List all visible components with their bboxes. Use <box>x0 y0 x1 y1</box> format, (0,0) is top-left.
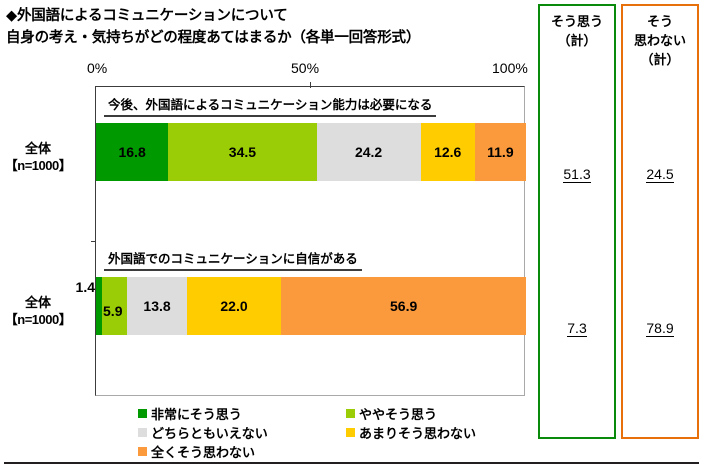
bottom-divider <box>4 462 699 464</box>
bar-segment-label-1-1: 16.8 <box>118 144 145 160</box>
axis-tick-mark-row-divider <box>91 241 96 242</box>
legend-swatch-icon-1 <box>138 409 147 418</box>
axis-tick-0: 0% <box>87 60 107 76</box>
legend-item-1: 非常にそう思う <box>138 404 346 423</box>
bar-segment-label-2-3: 13.8 <box>143 298 170 314</box>
legend: 非常にそう思う ややそう思う どちらともいえない あまりそう思わない 全くそう思… <box>138 404 538 461</box>
summary-header-disagree-line3: （計） <box>623 50 697 69</box>
summary-value-agree-row1: 51.3 <box>540 166 614 182</box>
row-label-1: 全体 【n=1000】 <box>0 140 82 174</box>
legend-swatch-icon-3 <box>138 428 147 437</box>
legend-row-3: 全くそう思わない <box>138 442 538 461</box>
bar-segment-1-1: 16.8 <box>96 123 168 181</box>
summary-header-agree: そう思う （計） <box>540 12 614 50</box>
axis-tick-100: 100% <box>492 60 528 76</box>
summary-column-agree: そう思う （計） 51.3 7.3 <box>538 4 616 439</box>
legend-item-5: 全くそう思わない <box>138 442 346 461</box>
row-label-2: 全体 【n=1000】 <box>0 294 82 328</box>
bar-segment-label-2-5: 56.9 <box>390 298 417 314</box>
legend-swatch-icon-4 <box>346 428 355 437</box>
summary-header-agree-line2: （計） <box>540 31 614 50</box>
summary-header-agree-line1: そう思う <box>540 12 614 31</box>
plot-area: 今後、外国語によるコミュニケーション能力は必要になる 16.8 34.5 24.… <box>95 86 525 396</box>
page-title-line1: ◆外国語によるコミュニケーションについて <box>6 4 288 25</box>
legend-label-5: 全くそう思わない <box>151 442 255 461</box>
summary-header-disagree-line2: 思わない <box>623 31 697 50</box>
row-label-2-n: 【n=1000】 <box>0 311 82 328</box>
chart-page: ◆外国語によるコミュニケーションについて 自身の考え・気持ちがどの程度あてはまる… <box>0 0 703 471</box>
bar-segment-1-3: 24.2 <box>317 123 421 181</box>
bar-segment-label-1-4: 12.6 <box>434 144 461 160</box>
legend-item-2: ややそう思う <box>346 404 437 423</box>
row-label-2-name: 全体 <box>0 294 82 311</box>
legend-swatch-icon-5 <box>138 447 147 456</box>
legend-label-3: どちらともいえない <box>151 423 268 442</box>
stacked-bar-1: 16.8 34.5 24.2 12.6 11.9 <box>96 123 526 181</box>
bar-segment-label-2-1: 1.4 <box>76 279 95 295</box>
axis-tick-50: 50% <box>291 60 319 76</box>
bar-segment-label-2-2: 5.9 <box>103 303 122 319</box>
bar-segment-label-1-2: 34.5 <box>229 144 256 160</box>
summary-value-disagree-row2: 78.9 <box>623 320 697 336</box>
bar-segment-1-4: 12.6 <box>421 123 475 181</box>
legend-row-1: 非常にそう思う ややそう思う <box>138 404 538 423</box>
row-label-1-name: 全体 <box>0 140 82 157</box>
summary-value-disagree-row1: 24.5 <box>623 166 697 182</box>
stacked-bar-2: 1.4 5.9 13.8 22.0 56.9 <box>96 277 526 335</box>
bar-segment-2-4: 22.0 <box>187 277 282 335</box>
bar-segment-label-1-3: 24.2 <box>355 144 382 160</box>
summary-value-agree-row2: 7.3 <box>540 320 614 336</box>
legend-item-3: どちらともいえない <box>138 423 346 442</box>
bar-segment-1-2: 34.5 <box>168 123 316 181</box>
bar-segment-2-2: 5.9 <box>102 277 127 335</box>
summary-column-disagree: そう 思わない （計） 24.5 78.9 <box>621 4 699 439</box>
axis-tick-mark-50 <box>310 82 311 88</box>
legend-row-2: どちらともいえない あまりそう思わない <box>138 423 538 442</box>
bar-segment-2-3: 13.8 <box>127 277 186 335</box>
legend-swatch-icon-2 <box>346 409 355 418</box>
bar-segment-label-2-4: 22.0 <box>220 298 247 314</box>
row-label-1-n: 【n=1000】 <box>0 157 82 174</box>
summary-header-disagree-line1: そう <box>623 12 697 31</box>
summary-header-disagree: そう 思わない （計） <box>623 12 697 69</box>
bar-segment-2-5: 56.9 <box>281 277 526 335</box>
bar-title-1: 今後、外国語によるコミュニケーション能力は必要になる <box>104 97 436 117</box>
legend-label-2: ややそう思う <box>359 404 437 423</box>
bar-segment-1-5: 11.9 <box>475 123 526 181</box>
bar-segment-label-1-5: 11.9 <box>487 144 513 160</box>
bar-title-2: 外国語でのコミュニケーションに自信がある <box>104 251 362 271</box>
legend-item-4: あまりそう思わない <box>346 423 476 442</box>
legend-label-1: 非常にそう思う <box>151 404 242 423</box>
legend-label-4: あまりそう思わない <box>359 423 476 442</box>
page-subtitle-line2: 自身の考え・気持ちがどの程度あてはまるか（各単一回答形式） <box>6 26 420 47</box>
